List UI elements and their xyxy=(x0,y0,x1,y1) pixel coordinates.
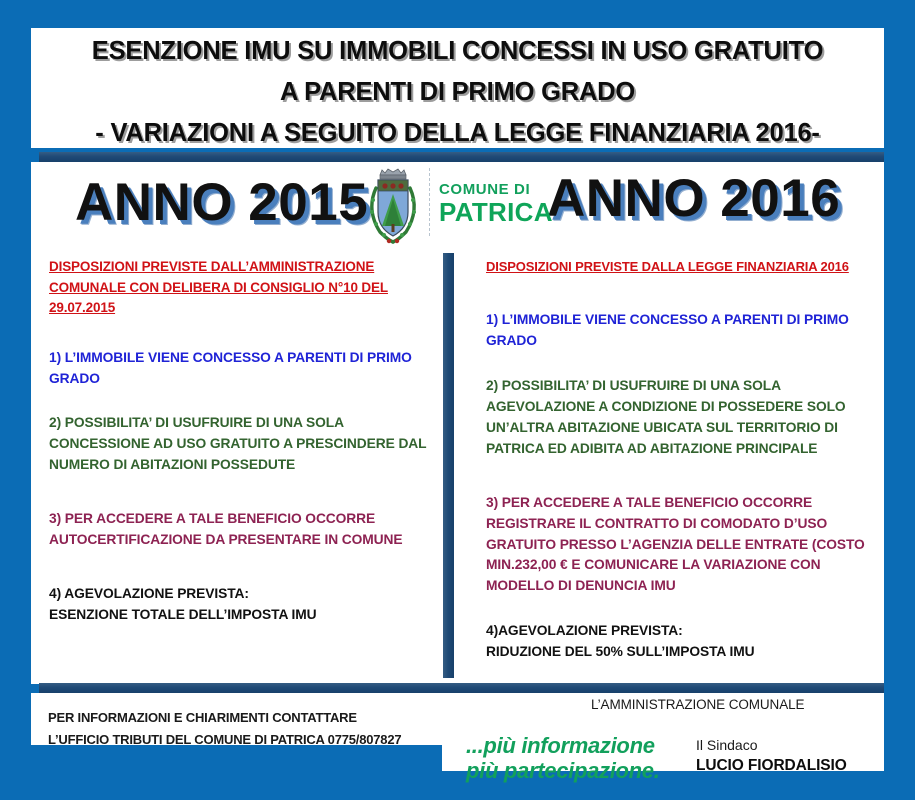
year-label-2015: ANNO 2015 xyxy=(75,172,368,233)
footer-contact-info: PER INFORMAZIONI E CHIARIMENTI CONTATTAR… xyxy=(48,707,401,752)
divider-columns xyxy=(443,253,454,678)
footer-sindaco-label: Il Sindaco xyxy=(696,737,757,753)
column-2015: DISPOSIZIONI PREVISTE DALL’AMMINISTRAZIO… xyxy=(31,248,443,626)
divider-top xyxy=(39,152,884,162)
footer-administration-label: L’AMMINISTRAZIONE COMUNALE xyxy=(591,697,804,712)
column-2015-heading: DISPOSIZIONI PREVISTE DALL’AMMINISTRAZIO… xyxy=(49,257,429,319)
column-2016-item-1: 1) L’IMMOBILE VIENE CONCESSO A PARENTI D… xyxy=(486,310,868,352)
title-panel: ESENZIONE IMU SU IMMOBILI CONCESSI IN US… xyxy=(31,28,884,148)
logo-patrica-label: PATRICA xyxy=(439,199,553,225)
column-2016-item-2: 2) POSSIBILITA’ DI USUFRUIRE DI UNA SOLA… xyxy=(486,376,868,460)
footer-panel: PER INFORMAZIONI E CHIARIMENTI CONTATTAR… xyxy=(31,693,884,771)
column-2015-item-1: 1) L’IMMOBILE VIENE CONCESSO A PARENTI D… xyxy=(49,348,429,390)
column-2015-item-2: 2) POSSIBILITA’ DI USUFRUIRE DI UNA SOLA… xyxy=(49,413,429,476)
coat-of-arms-crest-icon xyxy=(364,166,422,246)
comune-logo: COMUNE DI PATRICA xyxy=(349,164,539,248)
column-2016-item-4: 4)AGEVOLAZIONE PREVISTA: RIDUZIONE DEL 5… xyxy=(486,621,868,663)
logo-divider xyxy=(429,168,431,236)
body-panel: DISPOSIZIONI PREVISTE DALL’AMMINISTRAZIO… xyxy=(31,248,884,684)
column-2016-heading: DISPOSIZIONI PREVISTE DALLA LEGGE FINANZ… xyxy=(486,257,868,277)
year-label-2016: ANNO 2016 xyxy=(547,168,840,229)
logo-comune-label: COMUNE DI xyxy=(439,182,553,197)
poster-title-line-3: - VARIAZIONI A SEGUITO DELLA LEGGE FINAN… xyxy=(31,121,884,147)
footer-sindaco-name: LUCIO FIORDALISIO xyxy=(696,757,847,775)
poster-root: ESENZIONE IMU SU IMMOBILI CONCESSI IN US… xyxy=(0,0,915,800)
footer-slogan: ...più informazione più partecipazione. xyxy=(466,733,660,783)
column-2015-item-3: 3) PER ACCEDERE A TALE BENEFICIO OCCORRE… xyxy=(49,509,429,551)
column-2015-item-4: 4) AGEVOLAZIONE PREVISTA: ESENZIONE TOTA… xyxy=(49,584,429,626)
poster-title-line-2: A PARENTI DI PRIMO GRADO xyxy=(31,80,884,106)
poster-title-line-1: ESENZIONE IMU SU IMMOBILI CONCESSI IN US… xyxy=(31,39,884,65)
column-2016-item-3: 3) PER ACCEDERE A TALE BENEFICIO OCCORRE… xyxy=(486,493,868,598)
logo-text: COMUNE DI PATRICA xyxy=(439,182,553,225)
column-2016: DISPOSIZIONI PREVISTE DALLA LEGGE FINANZ… xyxy=(463,248,884,663)
divider-bottom xyxy=(39,683,884,693)
